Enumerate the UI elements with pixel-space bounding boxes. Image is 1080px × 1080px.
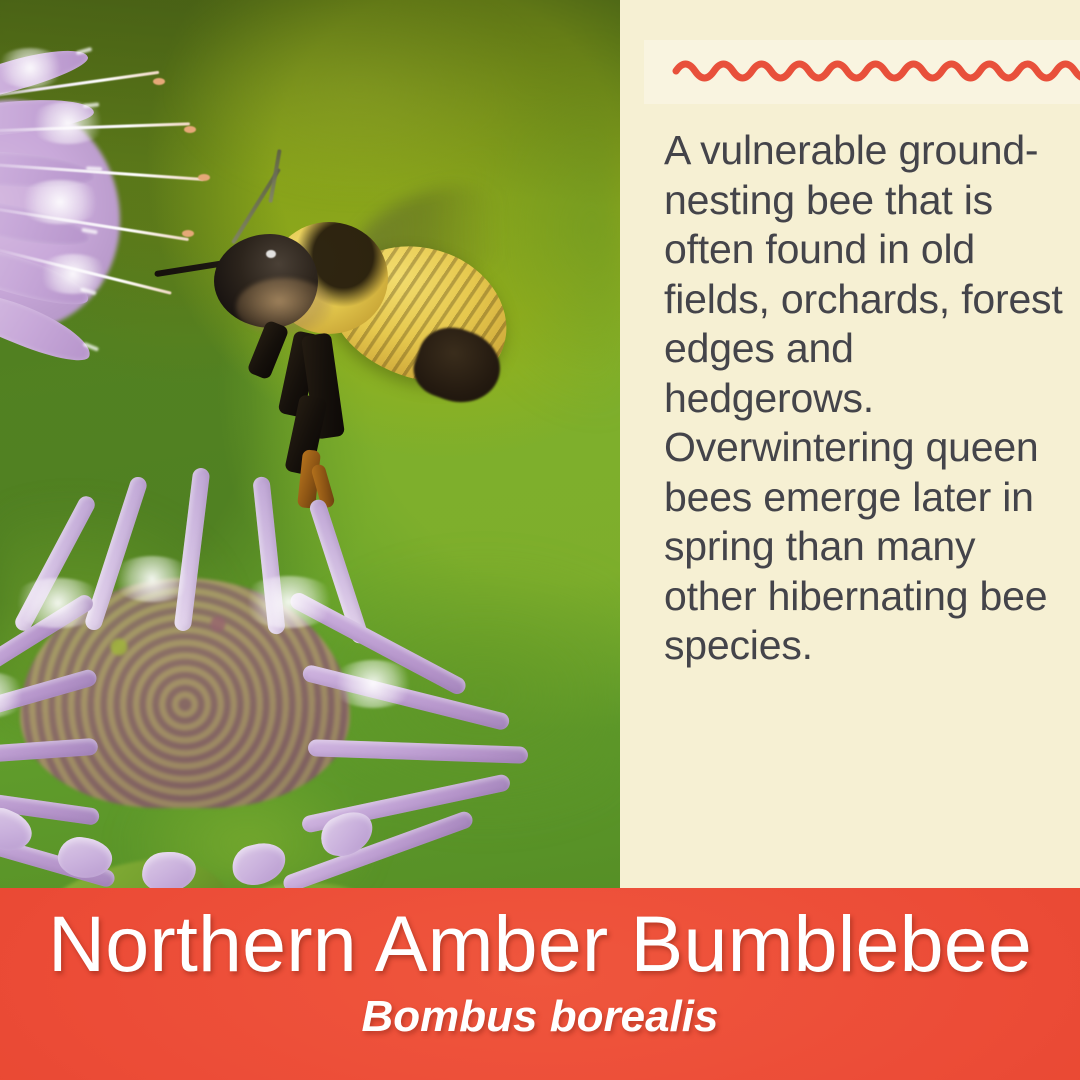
- species-info-card: A vulnerable ground-nesting bee that is …: [0, 0, 1080, 1080]
- species-description: A vulnerable ground-nesting bee that is …: [664, 126, 1068, 671]
- stamen-tip: [153, 78, 165, 85]
- description-panel: A vulnerable ground-nesting bee that is …: [620, 0, 1080, 888]
- species-photo: [0, 0, 620, 888]
- common-name: Northern Amber Bumblebee: [0, 898, 1080, 990]
- flower-fuzz: [240, 576, 338, 628]
- bee-balm-flower: [0, 438, 580, 888]
- scientific-name: Bombus borealis: [0, 992, 1080, 1042]
- stamen-tip: [184, 126, 196, 133]
- flower-petal-tip: [141, 850, 198, 888]
- flower-fuzz: [330, 660, 416, 708]
- flower-fuzz: [0, 48, 66, 88]
- stamen-tip: [182, 230, 194, 237]
- name-banner: Northern Amber Bumblebee Bombus borealis: [0, 888, 1080, 1080]
- flower-fuzz: [110, 556, 194, 602]
- flower-ray: [308, 739, 528, 764]
- flower-fuzz: [36, 254, 110, 294]
- flower-fuzz: [10, 578, 106, 628]
- flower-petal-tip: [228, 838, 290, 888]
- stamen-tip: [198, 174, 210, 181]
- upper-flower-cluster: [0, 40, 210, 400]
- flower-fuzz: [16, 180, 104, 224]
- flower-fuzz: [28, 102, 108, 144]
- wavy-line-icon: [676, 48, 1080, 94]
